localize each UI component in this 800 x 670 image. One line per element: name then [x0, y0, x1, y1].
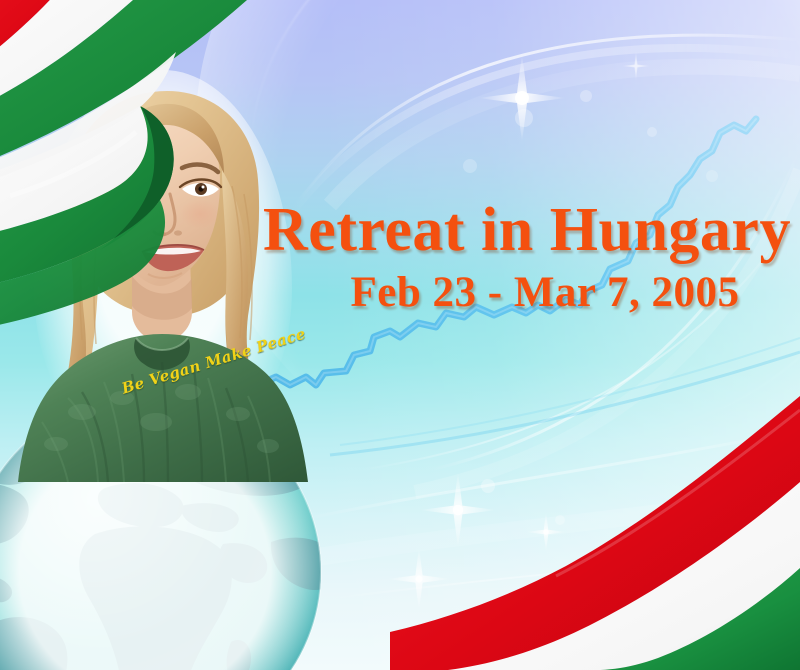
poster-title: Retreat in Hungary — [262, 198, 792, 263]
poster-canvas: Be Vegan Make Peace — [0, 0, 800, 670]
hungarian-flag-wave-bottom-right — [370, 370, 800, 670]
title-block: Retreat in Hungary Feb 23 - Mar 7, 2005 — [262, 198, 792, 316]
hungarian-flag-ribbon-top-left — [0, 0, 290, 330]
poster-dates: Feb 23 - Mar 7, 2005 — [262, 269, 792, 316]
